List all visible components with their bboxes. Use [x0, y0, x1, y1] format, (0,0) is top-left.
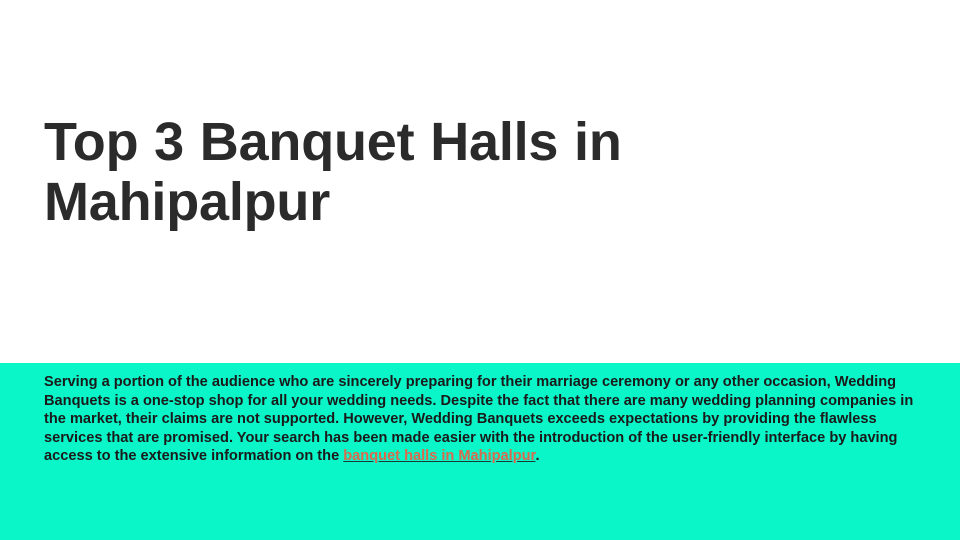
body-highlight-band: Serving a portion of the audience who ar…	[0, 363, 960, 540]
body-paragraph: Serving a portion of the audience who ar…	[44, 373, 919, 466]
slide-canvas: Top 3 Banquet Halls in Mahipalpur Servin…	[0, 0, 960, 540]
body-text-after-link: .	[535, 448, 539, 464]
title-block: Top 3 Banquet Halls in Mahipalpur	[44, 112, 844, 232]
banquet-halls-link[interactable]: banquet halls in Mahipalpur	[343, 448, 535, 464]
page-title: Top 3 Banquet Halls in Mahipalpur	[44, 112, 844, 232]
